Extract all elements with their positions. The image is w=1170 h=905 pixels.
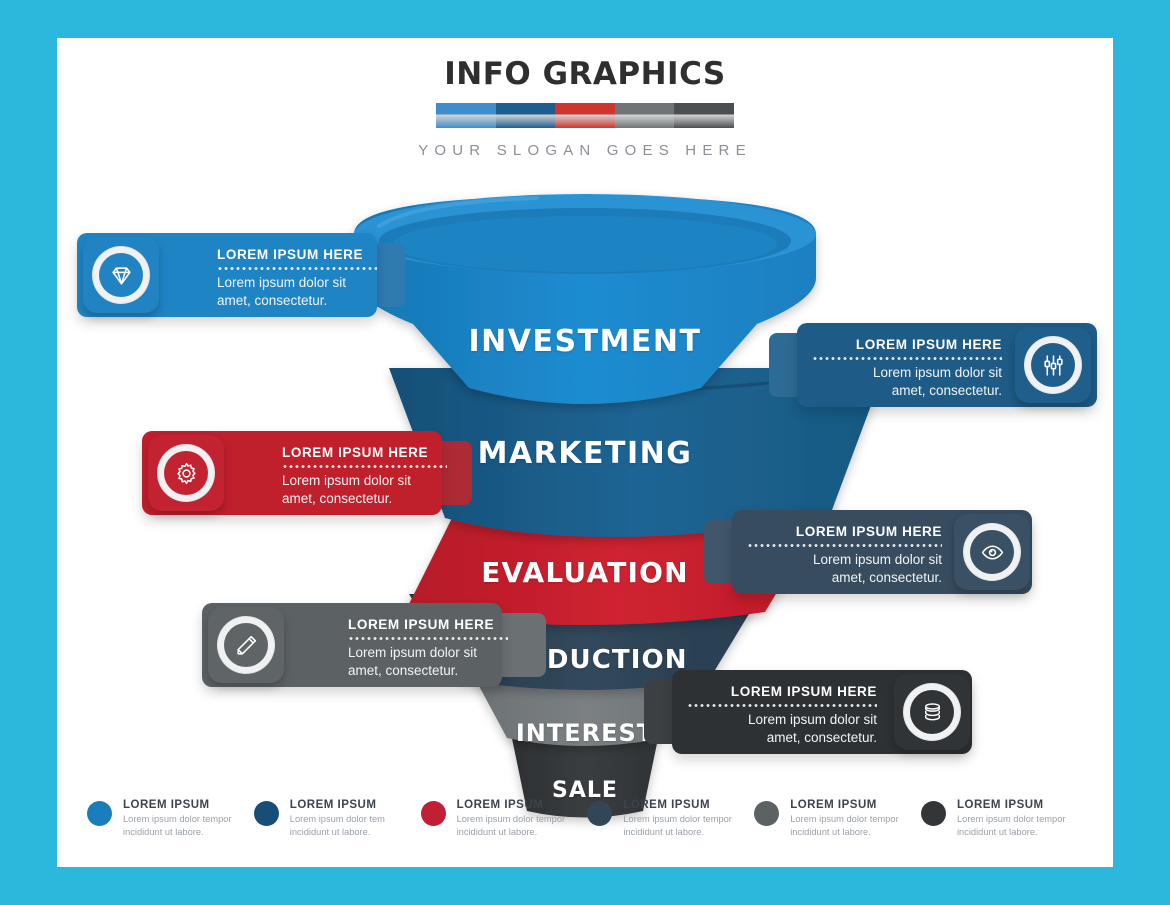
badge-ring-6 (903, 683, 961, 741)
legend-body-4: Lorem ipsum dolor tempor incididunt ut l… (623, 813, 732, 839)
legend-body-6: Lorem ipsum dolor tempor incididunt ut l… (957, 813, 1066, 839)
page-title: INFO GRAPHICS (57, 56, 1113, 92)
legend-item-3[interactable]: LOREM IPSUM Lorem ipsum dolor tempor inc… (421, 799, 587, 839)
colorbar-segment-1 (436, 103, 496, 128)
legend-title-1: LOREM IPSUM (123, 799, 232, 811)
callout-divider-6 (687, 702, 877, 709)
callout-body-2: Lorem ipsum dolor sit amet, consectetur. (812, 364, 1002, 400)
callout-text-2: LOREM IPSUM HERE Lorem ipsum dolor sit a… (812, 337, 1002, 400)
colorbar-segment-3 (555, 103, 615, 128)
legend-title-2: LOREM IPSUM (290, 799, 385, 811)
callout-body-3: Lorem ipsum dolor sit amet, consectetur. (282, 472, 447, 508)
callout-divider-3 (282, 463, 447, 470)
callout-card-4[interactable]: LOREM IPSUM HERE Lorem ipsum dolor sit a… (702, 510, 1042, 594)
badge-disc-4 (970, 530, 1014, 574)
legend-body-2: Lorem ipsum dolor tem incididunt ut labo… (290, 813, 385, 839)
badge-ring-4 (963, 523, 1021, 581)
header: INFO GRAPHICS YOUR SLOGAN GOES HERE (57, 38, 1113, 159)
poster-card: INFO GRAPHICS YOUR SLOGAN GOES HERE (57, 38, 1113, 867)
legend-body-5: Lorem ipsum dolor tempor incididunt ut l… (790, 813, 899, 839)
callout-body-5: Lorem ipsum dolor sit amet, consectetur. (348, 644, 508, 680)
callout-divider-5 (348, 635, 508, 642)
legend-item-5[interactable]: LOREM IPSUM Lorem ipsum dolor tempor inc… (754, 799, 920, 839)
callout-text-6: LOREM IPSUM HERE Lorem ipsum dolor sit a… (687, 684, 877, 747)
callout-title-1: LOREM IPSUM HERE (217, 247, 377, 262)
legend-text-1: LOREM IPSUM Lorem ipsum dolor tempor inc… (123, 799, 232, 839)
callout-body-4: Lorem ipsum dolor sit amet, consectetur. (747, 551, 942, 587)
legend-title-4: LOREM IPSUM (623, 799, 732, 811)
colorbar-segment-4 (615, 103, 675, 128)
badge-ring-1 (92, 246, 150, 304)
legend-body-3: Lorem ipsum dolor tempor incididunt ut l… (457, 813, 566, 839)
pencil-icon (234, 633, 259, 658)
callout-badge-3[interactable] (148, 435, 224, 511)
legend-title-6: LOREM IPSUM (957, 799, 1066, 811)
legend-item-6[interactable]: LOREM IPSUM Lorem ipsum dolor tempor inc… (921, 799, 1087, 839)
callout-badge-6[interactable] (894, 674, 970, 750)
legend-dot-5 (754, 801, 779, 826)
callout-title-2: LOREM IPSUM HERE (812, 337, 1002, 352)
callout-badge-2[interactable] (1015, 327, 1091, 403)
legend-title-3: LOREM IPSUM (457, 799, 566, 811)
callout-body-6: Lorem ipsum dolor sit amet, consectetur. (687, 711, 877, 747)
callout-text-3: LOREM IPSUM HERE Lorem ipsum dolor sit a… (282, 445, 447, 508)
callout-badge-5[interactable] (208, 607, 284, 683)
badge-ring-5 (217, 616, 275, 674)
callout-card-2[interactable]: LOREM IPSUM HERE Lorem ipsum dolor sit a… (767, 323, 1097, 407)
legend-item-2[interactable]: LOREM IPSUM Lorem ipsum dolor tem incidi… (254, 799, 420, 839)
header-slogan: YOUR SLOGAN GOES HERE (57, 142, 1113, 159)
legend-dot-3 (421, 801, 446, 826)
callout-title-3: LOREM IPSUM HERE (282, 445, 447, 460)
eye-icon (980, 540, 1005, 565)
badge-disc-1 (99, 253, 143, 297)
legend-text-2: LOREM IPSUM Lorem ipsum dolor tem incidi… (290, 799, 385, 839)
sliders-icon (1041, 353, 1066, 378)
legend-text-5: LOREM IPSUM Lorem ipsum dolor tempor inc… (790, 799, 899, 839)
badge-ring-3 (157, 444, 215, 502)
callout-badge-4[interactable] (954, 514, 1030, 590)
badge-disc-3 (164, 451, 208, 495)
legend-title-5: LOREM IPSUM (790, 799, 899, 811)
legend-text-6: LOREM IPSUM Lorem ipsum dolor tempor inc… (957, 799, 1066, 839)
callout-divider-4 (747, 542, 942, 549)
gear-icon (174, 461, 199, 486)
legend-item-4[interactable]: LOREM IPSUM Lorem ipsum dolor tempor inc… (587, 799, 753, 839)
legend-text-4: LOREM IPSUM Lorem ipsum dolor tempor inc… (623, 799, 732, 839)
diamond-icon (109, 263, 134, 288)
callout-title-4: LOREM IPSUM HERE (747, 524, 942, 539)
legend-dot-1 (87, 801, 112, 826)
callout-card-3[interactable]: LOREM IPSUM HERE Lorem ipsum dolor sit a… (142, 431, 472, 515)
badge-ring-2 (1024, 336, 1082, 394)
callout-body-1: Lorem ipsum dolor sit amet, consectetur. (217, 274, 377, 310)
legend-dot-4 (587, 801, 612, 826)
colorbar-segment-5 (674, 103, 734, 128)
legend-text-3: LOREM IPSUM Lorem ipsum dolor tempor inc… (457, 799, 566, 839)
coins-icon (920, 700, 945, 725)
callout-card-6[interactable]: LOREM IPSUM HERE Lorem ipsum dolor sit a… (642, 670, 987, 754)
callout-divider-2 (812, 355, 1002, 362)
badge-disc-5 (224, 623, 268, 667)
badge-disc-2 (1031, 343, 1075, 387)
infographic-canvas: INFO GRAPHICS YOUR SLOGAN GOES HERE (0, 0, 1170, 905)
callout-text-4: LOREM IPSUM HERE Lorem ipsum dolor sit a… (747, 524, 942, 587)
badge-disc-6 (910, 690, 954, 734)
callout-title-5: LOREM IPSUM HERE (348, 617, 508, 632)
legend: LOREM IPSUM Lorem ipsum dolor tempor inc… (87, 799, 1087, 839)
legend-body-1: Lorem ipsum dolor tempor incididunt ut l… (123, 813, 232, 839)
legend-dot-6 (921, 801, 946, 826)
callout-divider-1 (217, 265, 377, 272)
legend-item-1[interactable]: LOREM IPSUM Lorem ipsum dolor tempor inc… (87, 799, 253, 839)
callout-badge-1[interactable] (83, 237, 159, 313)
callout-title-6: LOREM IPSUM HERE (687, 684, 877, 699)
callout-text-5: LOREM IPSUM HERE Lorem ipsum dolor sit a… (348, 617, 508, 680)
colorbar-segment-2 (496, 103, 556, 128)
callout-card-5[interactable]: LOREM IPSUM HERE Lorem ipsum dolor sit a… (202, 603, 547, 687)
legend-dot-2 (254, 801, 279, 826)
callout-card-1[interactable]: LOREM IPSUM HERE Lorem ipsum dolor sit a… (77, 233, 397, 317)
callout-text-1: LOREM IPSUM HERE Lorem ipsum dolor sit a… (217, 247, 377, 310)
header-colorbar (436, 103, 734, 128)
